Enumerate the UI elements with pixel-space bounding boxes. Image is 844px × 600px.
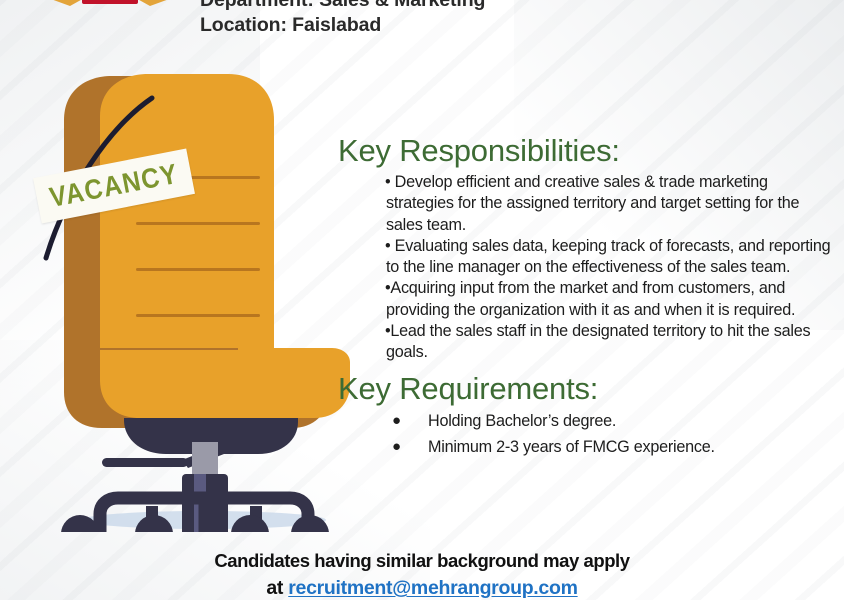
requirements-list: ● Holding Bachelor’s degree. ● Minimum 2… (338, 408, 838, 460)
list-item: •Acquiring input from the market and fro… (338, 278, 838, 321)
recruitment-email-link[interactable]: recruitment@mehrangroup.com (288, 577, 577, 599)
bullet-icon: ● (338, 434, 428, 460)
list-item: •Lead the sales staff in the designated … (338, 321, 838, 364)
requirements-heading: Key Requirements: (338, 370, 838, 408)
list-item: • Evaluating sales data, keeping track o… (338, 236, 838, 279)
apply-instruction: Candidates having similar background may… (0, 548, 844, 574)
requirement-text: Minimum 2-3 years of FMCG experience. (428, 434, 838, 460)
job-vacancy-poster: Department: Sales & Marketing Location: … (0, 0, 844, 600)
requirement-text: Holding Bachelor’s degree. (428, 408, 838, 434)
header-block: Department: Sales & Marketing Location: … (200, 0, 620, 38)
responsibilities-list: • Develop efficient and creative sales &… (338, 172, 838, 364)
list-item: • Develop efficient and creative sales &… (338, 172, 838, 236)
apply-email-prefix: at (266, 577, 288, 599)
responsibilities-heading: Key Responsibilities: (338, 132, 838, 170)
content-column: Key Responsibilities: • Develop efficien… (338, 132, 838, 460)
apply-email-line: at recruitment@mehrangroup.com (0, 574, 844, 600)
department-line: Department: Sales & Marketing (200, 0, 620, 13)
list-item: ● Minimum 2-3 years of FMCG experience. (338, 434, 838, 460)
bullet-icon: ● (338, 408, 428, 434)
company-logo (40, 0, 180, 12)
footer-block: Candidates having similar background may… (0, 548, 844, 600)
office-chair-illustration (42, 62, 372, 532)
location-line: Location: Faislabad (200, 13, 620, 38)
list-item: ● Holding Bachelor’s degree. (338, 408, 838, 434)
